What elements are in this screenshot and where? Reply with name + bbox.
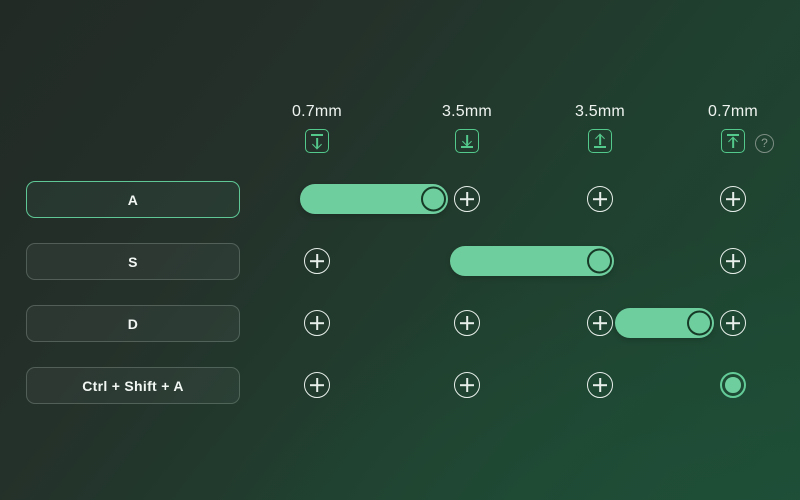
key-chip-row-0[interactable]: A xyxy=(26,181,240,218)
add-button-r0-c3[interactable] xyxy=(720,186,746,212)
add-button-r2-c0[interactable] xyxy=(304,310,330,336)
range-slider-row-2[interactable] xyxy=(615,308,714,338)
column-size-label: 3.5mm xyxy=(407,103,527,121)
settings-grid-panel: 0.7mm 3.5mm 3.5mm 0.7mm ? A S D Ctrl + S… xyxy=(0,0,800,500)
column-size-label: 0.7mm xyxy=(673,103,793,121)
add-button-r0-c2[interactable] xyxy=(587,186,613,212)
column-header-0: 0.7mm xyxy=(257,103,377,153)
arrow-down-to-line-bottom-icon[interactable] xyxy=(455,129,479,153)
key-chip-row-2[interactable]: D xyxy=(26,305,240,342)
arrow-up-to-line-icon[interactable] xyxy=(721,129,745,153)
key-chip-label: D xyxy=(128,316,138,332)
slider-knob[interactable] xyxy=(687,311,712,336)
add-button-r2-c1[interactable] xyxy=(454,310,480,336)
slider-knob[interactable] xyxy=(587,249,612,274)
add-button-r1-c0[interactable] xyxy=(304,248,330,274)
add-button-r3-c0[interactable] xyxy=(304,372,330,398)
column-header-2: 3.5mm xyxy=(540,103,660,153)
key-chip-label: Ctrl + Shift + A xyxy=(82,378,184,394)
arrow-down-to-line-top-icon[interactable] xyxy=(305,129,329,153)
slider-knob[interactable] xyxy=(421,187,446,212)
key-chip-label: A xyxy=(128,192,138,208)
selected-dot-r3-c3[interactable] xyxy=(720,372,746,398)
range-slider-row-1[interactable] xyxy=(450,246,614,276)
key-chip-label: S xyxy=(128,254,138,270)
add-button-r2-c2[interactable] xyxy=(587,310,613,336)
arrow-up-from-line-icon[interactable] xyxy=(588,129,612,153)
column-size-label: 3.5mm xyxy=(540,103,660,121)
range-slider-row-0[interactable] xyxy=(300,184,448,214)
column-header-3: 0.7mm xyxy=(673,103,793,153)
add-button-r1-c3[interactable] xyxy=(720,248,746,274)
key-chip-row-3[interactable]: Ctrl + Shift + A xyxy=(26,367,240,404)
column-header-1: 3.5mm xyxy=(407,103,527,153)
column-size-label: 0.7mm xyxy=(257,103,377,121)
add-button-r3-c1[interactable] xyxy=(454,372,480,398)
help-question-icon[interactable]: ? xyxy=(755,134,774,153)
add-button-r3-c2[interactable] xyxy=(587,372,613,398)
add-button-r2-c3[interactable] xyxy=(720,310,746,336)
add-button-r0-c1[interactable] xyxy=(454,186,480,212)
key-chip-row-1[interactable]: S xyxy=(26,243,240,280)
